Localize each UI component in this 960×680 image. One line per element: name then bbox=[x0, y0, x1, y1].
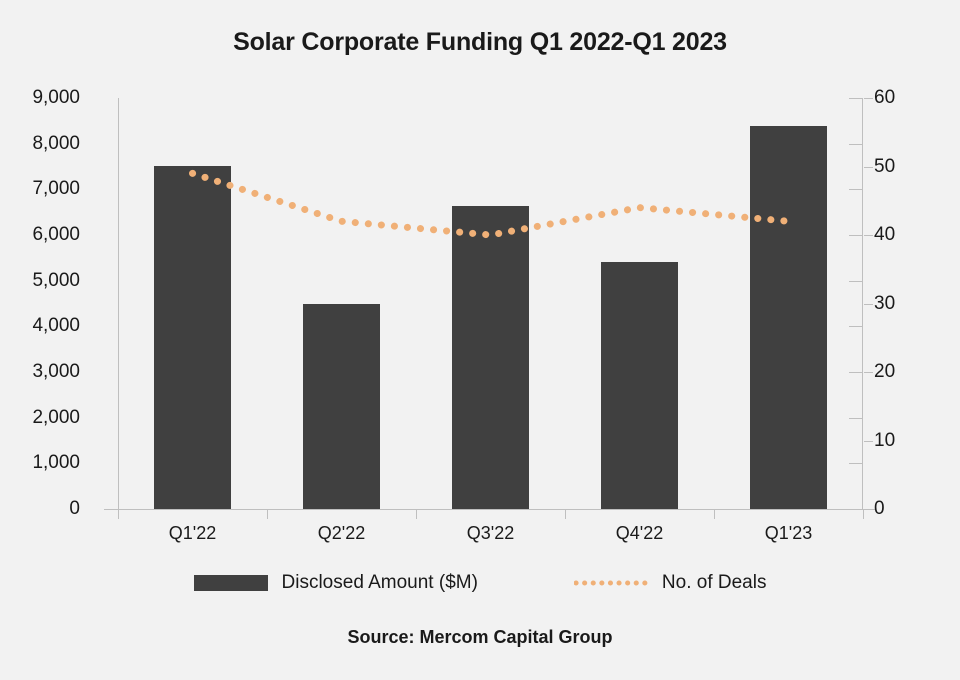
x-axis-tick bbox=[565, 509, 566, 519]
x-axis-tick bbox=[416, 509, 417, 519]
left-axis-tick-label: 7,000 bbox=[0, 178, 98, 200]
legend-item-disclosed-amount[interactable]: Disclosed Amount ($M) bbox=[194, 572, 478, 594]
left-axis-tick-label: 9,000 bbox=[0, 87, 98, 109]
left-axis-tick bbox=[849, 372, 863, 373]
chart-legend: Disclosed Amount ($M) No. of Deals bbox=[0, 572, 960, 594]
left-axis-tick-label: 4,000 bbox=[0, 315, 98, 337]
left-axis-tick-label: 3,000 bbox=[0, 361, 98, 383]
right-axis-tick-label: 60 bbox=[874, 87, 944, 109]
right-axis-tick bbox=[864, 509, 873, 510]
right-axis-tick bbox=[864, 98, 873, 99]
bar[interactable] bbox=[303, 304, 380, 509]
right-axis-tick-label: 0 bbox=[874, 498, 944, 520]
left-axis-tick-label: 8,000 bbox=[0, 133, 98, 155]
x-axis-tick bbox=[863, 509, 864, 519]
chart-title: Solar Corporate Funding Q1 2022-Q1 2023 bbox=[0, 28, 960, 57]
left-axis-tick bbox=[849, 189, 863, 190]
x-axis-tick-label: Q3'22 bbox=[467, 523, 514, 544]
right-axis-tick bbox=[864, 167, 873, 168]
left-axis-tick bbox=[849, 281, 863, 282]
right-axis-tick bbox=[864, 372, 873, 373]
bar[interactable] bbox=[452, 206, 529, 509]
left-axis-tick bbox=[849, 98, 863, 99]
right-axis-tick-label: 20 bbox=[874, 361, 944, 383]
left-axis-tick-label: 1,000 bbox=[0, 452, 98, 474]
right-axis-tick bbox=[864, 235, 873, 236]
x-axis-tick bbox=[118, 509, 119, 519]
right-axis-tick-label: 50 bbox=[874, 156, 944, 178]
source-note: Source: Mercom Capital Group bbox=[0, 627, 960, 648]
left-axis-tick bbox=[849, 509, 863, 510]
dotted-line-swatch-icon bbox=[574, 575, 648, 591]
plot-area bbox=[118, 98, 863, 509]
x-axis-tick-label: Q2'22 bbox=[318, 523, 365, 544]
x-axis-tick-label: Q1'22 bbox=[169, 523, 216, 544]
left-axis-tick-label: 5,000 bbox=[0, 270, 98, 292]
left-axis-tick bbox=[849, 144, 863, 145]
legend-label-no-of-deals: No. of Deals bbox=[662, 572, 767, 594]
bar[interactable] bbox=[601, 262, 678, 509]
bar-swatch-icon bbox=[194, 575, 268, 591]
bar[interactable] bbox=[750, 126, 827, 509]
left-axis-tick bbox=[849, 235, 863, 236]
left-axis-tick-label: 2,000 bbox=[0, 407, 98, 429]
x-axis-tick-label: Q4'22 bbox=[616, 523, 663, 544]
x-axis-tick bbox=[267, 509, 268, 519]
left-axis-tick-label: 6,000 bbox=[0, 224, 98, 246]
chart-container: Solar Corporate Funding Q1 2022-Q1 2023 … bbox=[0, 0, 960, 680]
right-axis-tick bbox=[864, 304, 873, 305]
left-axis-tick-label: 0 bbox=[0, 498, 98, 520]
left-axis-tick bbox=[849, 418, 863, 419]
left-axis-tick bbox=[849, 326, 863, 327]
left-axis-tick bbox=[849, 463, 863, 464]
legend-item-no-of-deals[interactable]: No. of Deals bbox=[574, 572, 767, 594]
x-axis-tick bbox=[714, 509, 715, 519]
x-axis-line bbox=[104, 509, 876, 510]
legend-label-disclosed-amount: Disclosed Amount ($M) bbox=[282, 572, 478, 594]
bar[interactable] bbox=[154, 166, 231, 509]
right-axis-tick-label: 40 bbox=[874, 224, 944, 246]
x-axis-tick-label: Q1'23 bbox=[765, 523, 812, 544]
right-axis-tick-label: 30 bbox=[874, 293, 944, 315]
right-axis-tick-label: 10 bbox=[874, 430, 944, 452]
right-axis-tick bbox=[864, 441, 873, 442]
